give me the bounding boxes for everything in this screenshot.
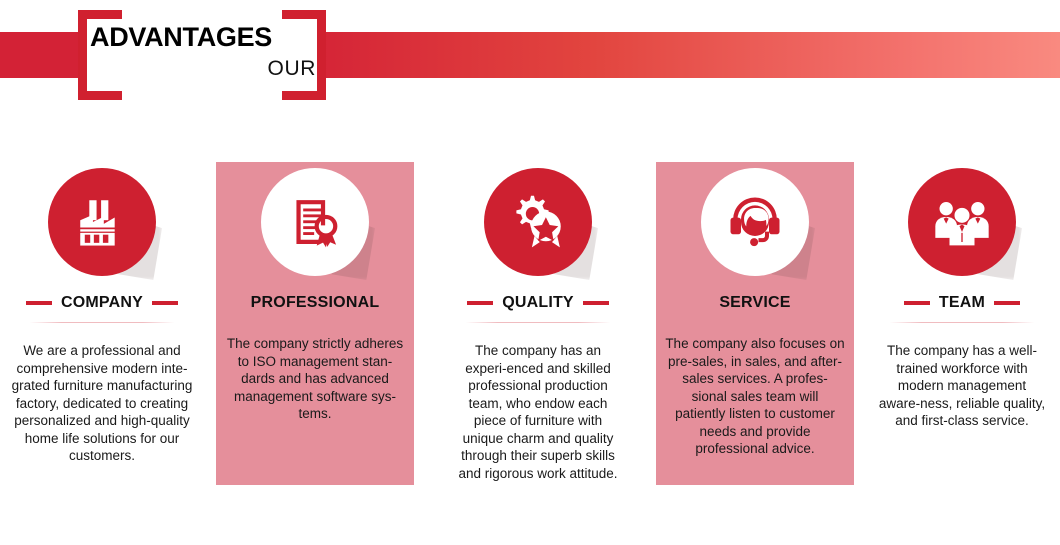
card-body-text: The company strictly adheres to ISO mana… <box>216 335 414 423</box>
card-divider <box>30 322 175 323</box>
card-body-text: The company has an experi-enced and skil… <box>447 342 629 482</box>
certificate-icon <box>261 168 369 276</box>
title-dash-right <box>152 301 178 305</box>
title-dash-right <box>583 301 609 305</box>
card-title-row: COMPANY <box>2 290 202 316</box>
card-divider <box>466 322 611 323</box>
people-group-icon <box>908 168 1016 276</box>
advantage-card-professional[interactable]: PROFESSIONAL The company strictly adhere… <box>216 150 414 495</box>
advantage-card-company[interactable]: COMPANY We are a professional and compre… <box>2 150 202 495</box>
card-icon-wrap <box>261 168 369 276</box>
page-title: ADVANTAGES <box>90 24 320 51</box>
advantage-card-team[interactable]: TEAM The company has a well-trained work… <box>872 150 1052 495</box>
card-title-row: TEAM <box>872 290 1052 316</box>
card-title: PROFESSIONAL <box>251 294 380 312</box>
title-dash-left <box>467 301 493 305</box>
title-dash-left <box>26 301 52 305</box>
title-dash-right <box>994 301 1020 305</box>
gear-star-icon <box>484 168 592 276</box>
card-title: COMPANY <box>61 294 143 312</box>
card-title-row: QUALITY <box>447 290 629 316</box>
card-title-row: PROFESSIONAL <box>216 290 414 316</box>
card-title: SERVICE <box>719 294 790 312</box>
card-body-text: We are a professional and comprehensive … <box>2 342 202 465</box>
card-divider <box>890 322 1035 323</box>
card-icon-wrap <box>48 168 156 276</box>
title-dash-left <box>904 301 930 305</box>
advantage-card-row: COMPANY We are a professional and compre… <box>0 150 1060 510</box>
card-title: TEAM <box>939 294 985 312</box>
card-icon-wrap <box>908 168 1016 276</box>
page-subtitle: OUR <box>90 58 316 79</box>
factory-icon <box>48 168 156 276</box>
card-body-text: The company also focuses on pre-sales, i… <box>656 335 854 458</box>
card-body-text: The company has a well-trained workforce… <box>872 342 1052 430</box>
card-title: QUALITY <box>502 294 574 312</box>
card-icon-wrap <box>701 168 809 276</box>
advantage-card-service[interactable]: SERVICE The company also focuses on pre-… <box>656 150 854 495</box>
page-header: ADVANTAGES OUR <box>0 0 1060 110</box>
card-title-row: SERVICE <box>656 290 854 316</box>
headset-support-icon <box>701 168 809 276</box>
advantage-card-quality[interactable]: QUALITY The company has an experi-enced … <box>447 150 629 495</box>
card-icon-wrap <box>484 168 592 276</box>
